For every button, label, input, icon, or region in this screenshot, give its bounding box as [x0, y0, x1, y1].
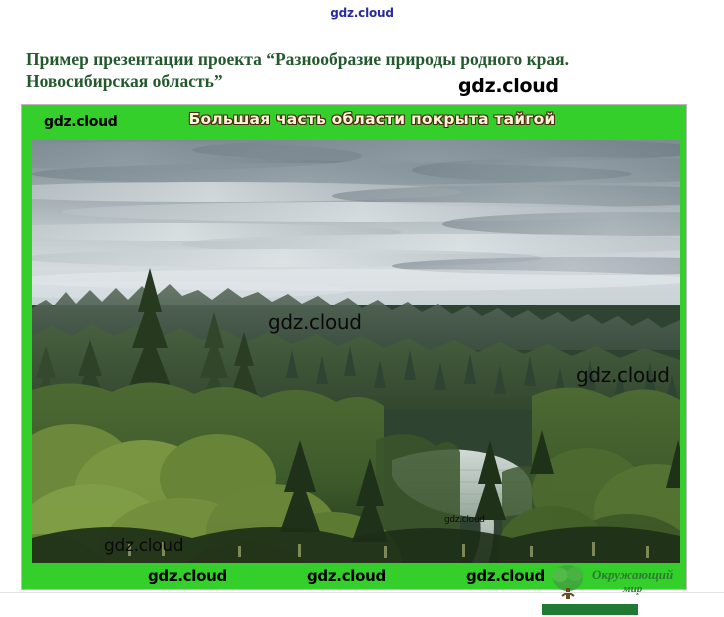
slide-title: Большая часть области покрыта тайгой: [172, 110, 572, 128]
page-title: Пример презентации проекта “Разнообразие…: [26, 48, 666, 92]
slide-header-watermark: gdz.cloud: [44, 114, 118, 130]
bottom-green-bar[interactable]: [542, 604, 638, 615]
logo-line-2: мир: [592, 582, 673, 596]
top-watermark: gdz.cloud: [0, 6, 724, 20]
footer-watermark-2: gdz.cloud: [307, 567, 386, 585]
footer-watermark-1: gdz.cloud: [148, 567, 227, 585]
tree-icon: [548, 562, 588, 602]
bottom-divider: [0, 592, 724, 593]
okruzhayushchiy-mir-logo[interactable]: Окружающий мир: [548, 560, 698, 604]
taiga-forest-photo: gdz.cloud gdz.cloud gdz.cloud gdz.cloud …: [32, 140, 680, 563]
title-area-watermark: gdz.cloud: [458, 75, 559, 97]
slide-header: gdz.cloud Большая часть области покрыта …: [22, 105, 686, 142]
presentation-slide: gdz.cloud Большая часть области покрыта …: [22, 105, 686, 589]
footer-watermark-3: gdz.cloud: [466, 567, 545, 585]
taiga-forest-illustration: [32, 140, 680, 563]
logo-line-1: Окружающий: [592, 567, 673, 582]
